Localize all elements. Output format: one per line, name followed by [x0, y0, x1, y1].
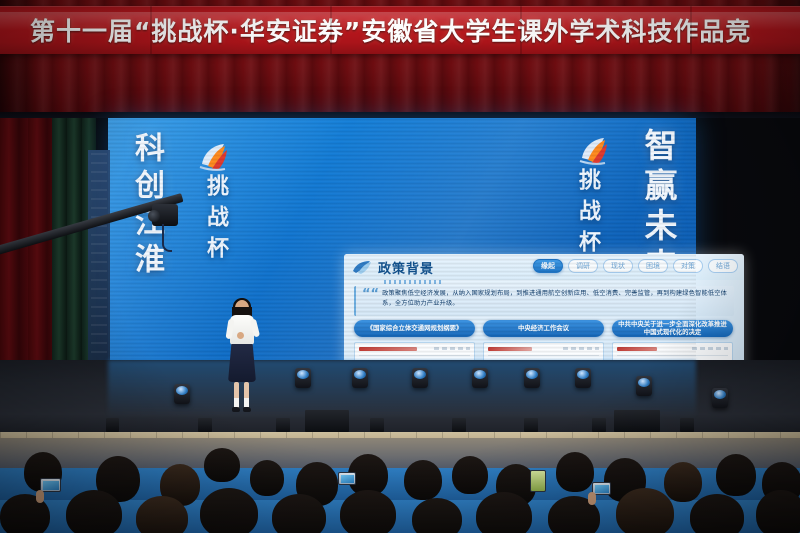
camera-head	[148, 196, 182, 238]
audience-head	[200, 488, 258, 533]
moving-head-light	[412, 368, 428, 388]
light-lens-icon	[526, 370, 538, 379]
presenter-shoe	[232, 407, 240, 412]
audience-head	[204, 448, 240, 482]
audience-head	[616, 488, 674, 533]
audience-head	[250, 460, 284, 496]
led-scanline-texture	[108, 118, 696, 360]
audience-phone	[530, 470, 546, 492]
light-lens-icon	[176, 386, 188, 395]
phone-screen	[341, 475, 354, 483]
moving-head-light	[472, 368, 488, 388]
light-lens-icon	[354, 370, 366, 379]
presenter-sock	[234, 398, 239, 407]
audience-head	[404, 460, 442, 500]
banner-fold	[330, 6, 332, 54]
phone-screen	[43, 481, 59, 490]
moving-head-light	[295, 368, 311, 388]
moving-head-light	[636, 376, 652, 396]
audience-head	[716, 454, 756, 496]
audience-area	[0, 438, 800, 533]
moving-head-light	[575, 368, 591, 388]
light-lens-icon	[638, 378, 650, 387]
stage-sub-speaker	[305, 410, 349, 432]
presenter-sock	[244, 398, 249, 407]
presenter-hand	[237, 332, 244, 339]
doc-header-menu	[692, 347, 728, 350]
audience-head	[690, 494, 744, 533]
stage-sub-speaker	[614, 410, 660, 432]
audience-phone	[40, 478, 61, 492]
banner-fold	[150, 6, 152, 54]
light-lens-icon	[297, 370, 309, 379]
audience-hand	[588, 492, 596, 505]
banner-gloss	[0, 12, 800, 30]
light-lens-icon	[714, 390, 726, 399]
stage-floor-reflection	[108, 360, 696, 418]
floor-monitor	[198, 418, 212, 432]
audience-head	[66, 490, 122, 533]
audience-head	[664, 462, 702, 502]
audience-head	[136, 496, 188, 533]
audience-head	[476, 492, 532, 533]
conference-stage-photo: 第十一届“挑战杯·华安证券”安徽省大学生课外学术科技作品竞 科创江淮 智赢未来 …	[0, 0, 800, 533]
floor-monitor	[370, 418, 384, 432]
audience-head	[452, 456, 488, 494]
phone-screen	[595, 485, 609, 493]
moving-head-light	[174, 384, 190, 404]
banner-fold	[520, 6, 522, 54]
light-lens-icon	[474, 370, 486, 379]
banner-fold	[690, 6, 692, 54]
audience-hand	[36, 490, 44, 503]
led-video-wall: 科创江淮 智赢未来 挑战杯 挑战杯 政策背景 缘起	[108, 118, 696, 360]
audience-head	[556, 452, 594, 492]
audience-head	[340, 490, 396, 533]
audience-head	[756, 490, 800, 533]
slide-tab-5[interactable]: 结语	[708, 259, 738, 273]
moving-head-light	[712, 388, 728, 408]
presenter-person	[222, 300, 262, 420]
presenter-shoe	[243, 407, 251, 412]
audience-phone	[338, 472, 356, 485]
audience-head	[412, 498, 462, 533]
moving-head-light	[524, 368, 540, 388]
camera-cable	[162, 224, 172, 252]
audience-head	[272, 494, 326, 533]
light-lens-icon	[577, 370, 589, 379]
floor-monitor	[276, 418, 290, 432]
floor-monitor	[452, 418, 466, 432]
floor-monitor	[592, 418, 606, 432]
floor-monitor	[106, 418, 119, 432]
moving-head-light	[352, 368, 368, 388]
light-lens-icon	[414, 370, 426, 379]
event-banner: 第十一届“挑战杯·华安证券”安徽省大学生课外学术科技作品竞	[0, 6, 800, 54]
camera-lens-icon	[148, 210, 160, 222]
floor-monitor	[524, 418, 538, 432]
presenter-skirt	[228, 344, 256, 382]
floor-monitor	[680, 418, 694, 432]
